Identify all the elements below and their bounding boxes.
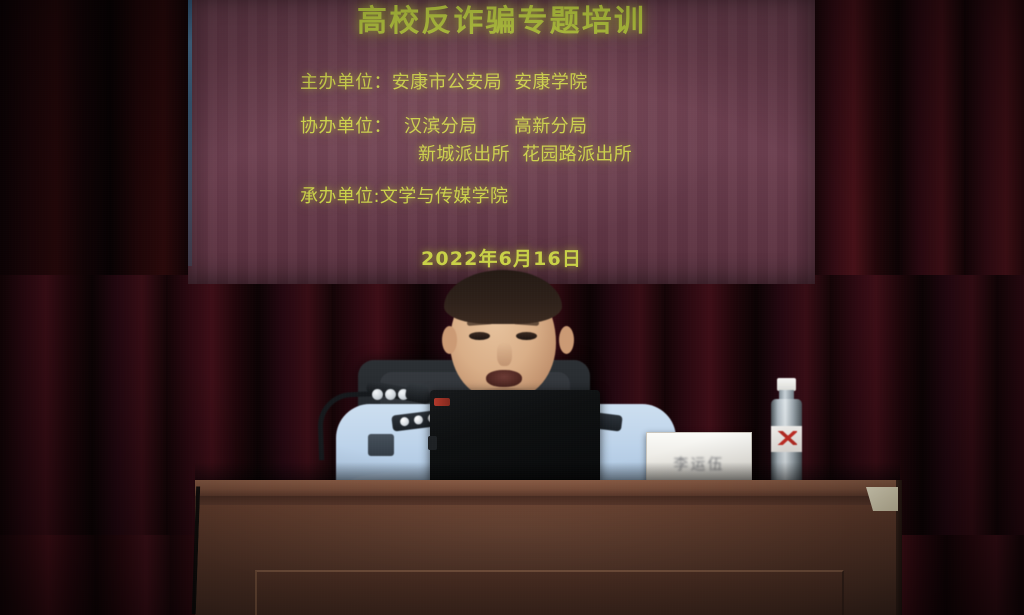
curtain-left-panel (0, 0, 200, 300)
slide-host-organization-line: 主办单位：安康市公安局 安康学院 (300, 68, 815, 94)
microphone-head (405, 382, 430, 403)
photograph-scene: 高校反诈骗专题培训 主办单位：安康市公安局 安康学院 协办单位： 汉滨分局 高新… (0, 0, 1024, 615)
projection-screen: 高校反诈骗专题培训 主办单位：安康市公安局 安康学院 协办单位： 汉滨分局 高新… (188, 0, 815, 284)
microphone-bead (385, 389, 396, 400)
speaker-ear-right (559, 326, 574, 354)
microphone-gooseneck-stem (317, 391, 394, 461)
bottle-logo-icon (776, 431, 797, 445)
speaker-eye-left (469, 332, 490, 340)
podium-recessed-panel (255, 570, 844, 615)
podium-edge-molding (195, 496, 900, 505)
slide-title: 高校反诈骗专题培训 (188, 0, 815, 40)
hanging-cable (170, 486, 200, 615)
slide-cooperating-units-line-2: 新城派出所 花园路派出所 (418, 140, 815, 166)
epaulette-pip (400, 417, 410, 427)
speaker-nose (497, 342, 512, 366)
slide-date: 2022年6月16日 (188, 244, 815, 271)
microphone-bead (372, 389, 383, 400)
speaker-ear-left (442, 326, 457, 354)
podium-top-surface (195, 480, 900, 496)
slide-organizing-unit-line: 承办单位:文学与传媒学院 (300, 182, 815, 208)
speaker-mouth (486, 370, 522, 387)
curtain-right-panel (812, 0, 1024, 300)
speaker-hair (444, 270, 562, 324)
slide-cooperating-units-line-1: 协办单位： 汉滨分局 高新分局 (300, 112, 815, 138)
epaulette-pip (413, 415, 423, 425)
laptop-indicator-light (434, 398, 450, 406)
speaker-eye-right (516, 332, 537, 340)
laptop-hinge (428, 436, 437, 450)
